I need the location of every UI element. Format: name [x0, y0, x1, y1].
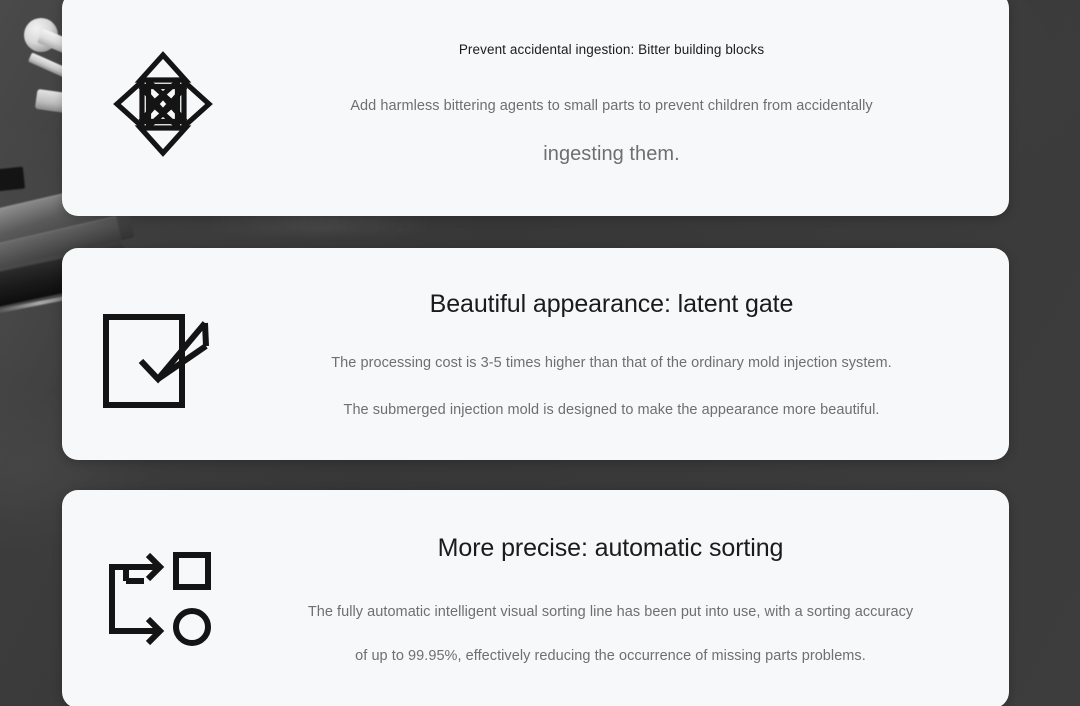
photo-dark-slot-shape: [0, 167, 25, 192]
feature-card-3-body: More precise: automatic sorting The full…: [252, 534, 1009, 664]
spacer: [258, 57, 965, 98]
spacer: [252, 563, 969, 604]
feature-card-1-title: Prevent accidental ingestion: Bitter bui…: [459, 42, 764, 57]
feature-card-1-body: Prevent accidental ingestion: Bitter bui…: [258, 42, 1009, 166]
feature-card-2-line-1: The processing cost is 3-5 times higher …: [331, 355, 892, 371]
feature-card-2-line-2: The submerged injection mold is designed…: [344, 402, 880, 418]
feature-card-3[interactable]: More precise: automatic sorting The full…: [62, 490, 1009, 706]
feature-card-1-line-1: Add harmless bittering agents to small p…: [350, 98, 872, 114]
feature-card-3-title: More precise: automatic sorting: [438, 534, 784, 563]
feature-card-2-icon-wrap: [62, 299, 252, 409]
spacer: [252, 371, 971, 402]
feature-card-3-line-2: of up to 99.95%, effectively reducing th…: [355, 648, 866, 664]
feature-card-3-icon-wrap: [62, 549, 252, 649]
document-checkmark-icon: [101, 299, 213, 409]
diamond-blocks-icon: [112, 50, 214, 158]
spacer: [258, 114, 965, 143]
feature-card-1-line-2: ingesting them.: [543, 143, 679, 166]
feature-card-2-body: Beautiful appearance: latent gate The pr…: [252, 290, 1009, 418]
feature-card-1-icon-wrap: [62, 50, 258, 158]
feature-card-3-line-1: The fully automatic intelligent visual s…: [308, 604, 913, 620]
sorting-arrows-icon: [102, 549, 212, 649]
spacer: [252, 319, 971, 355]
feature-card-2[interactable]: Beautiful appearance: latent gate The pr…: [62, 248, 1009, 460]
feature-card-2-title: Beautiful appearance: latent gate: [430, 290, 794, 319]
page-root: Prevent accidental ingestion: Bitter bui…: [0, 0, 1080, 706]
feature-card-1[interactable]: Prevent accidental ingestion: Bitter bui…: [62, 0, 1009, 216]
spacer: [252, 620, 969, 648]
photo-knob-shape: [24, 18, 58, 52]
